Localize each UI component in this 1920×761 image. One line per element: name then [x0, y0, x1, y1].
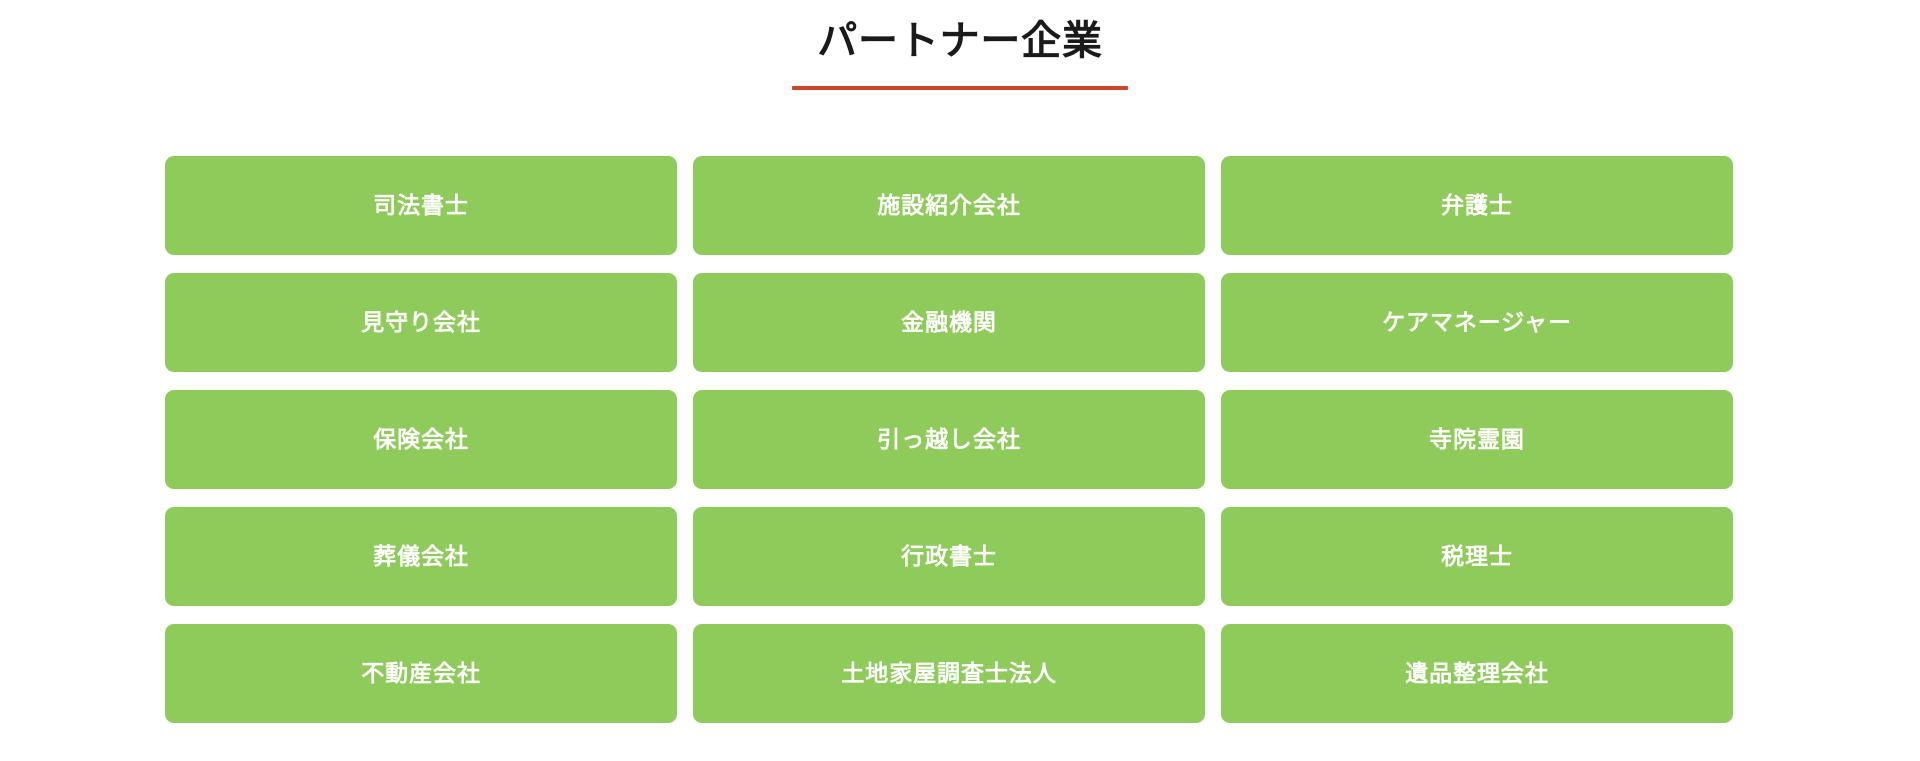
partner-card-jiin-reien[interactable]: 寺院霊園: [1221, 390, 1733, 489]
partner-card-label: 引っ越し会社: [877, 425, 1021, 455]
partner-card-bengoshi[interactable]: 弁護士: [1221, 156, 1733, 255]
partner-card-zeirishi[interactable]: 税理士: [1221, 507, 1733, 606]
partner-card-tochikaoku-chosashi[interactable]: 土地家屋調査士法人: [693, 624, 1205, 723]
partner-card-kinyu-kikan[interactable]: 金融機関: [693, 273, 1205, 372]
partner-card-label: 葬儀会社: [373, 542, 469, 572]
partner-card-sogi[interactable]: 葬儀会社: [165, 507, 677, 606]
partner-card-care-manager[interactable]: ケアマネージャー: [1221, 273, 1733, 372]
section-heading: パートナー企業: [0, 0, 1920, 90]
partner-card-grid: 司法書士 施設紹介会社 弁護士 見守り会社 金融機関 ケアマネージャー 保険会社…: [165, 156, 1733, 723]
partner-card-hoken[interactable]: 保険会社: [165, 390, 677, 489]
partner-card-label: 見守り会社: [361, 308, 481, 338]
partner-card-label: 土地家屋調査士法人: [841, 659, 1056, 689]
partner-card-fudosan[interactable]: 不動産会社: [165, 624, 677, 723]
partner-card-label: 施設紹介会社: [877, 191, 1021, 221]
partner-card-label: 不動産会社: [361, 659, 481, 689]
partner-card-mimamori[interactable]: 見守り会社: [165, 273, 677, 372]
partner-card-label: 保険会社: [373, 425, 469, 455]
partner-card-label: 税理士: [1441, 542, 1513, 572]
partner-card-label: 司法書士: [373, 191, 469, 221]
partner-card-label: 遺品整理会社: [1405, 659, 1549, 689]
page-title-text: パートナー企業: [817, 19, 1103, 63]
partner-card-ihin-seiri[interactable]: 遺品整理会社: [1221, 624, 1733, 723]
partner-card-label: 金融機関: [901, 308, 997, 338]
partner-card-shihoshoshi[interactable]: 司法書士: [165, 156, 677, 255]
partner-card-label: ケアマネージャー: [1382, 308, 1572, 338]
partner-card-label: 行政書士: [901, 542, 997, 572]
partner-card-label: 寺院霊園: [1429, 425, 1525, 455]
page-title: パートナー企業: [813, 14, 1107, 90]
partner-card-gyoseishoshi[interactable]: 行政書士: [693, 507, 1205, 606]
partner-card-shisetsu-shokai[interactable]: 施設紹介会社: [693, 156, 1205, 255]
partner-card-hikkoshi[interactable]: 引っ越し会社: [693, 390, 1205, 489]
partner-companies-page: パートナー企業 司法書士 施設紹介会社 弁護士 見守り会社 金融機関 ケアマネー…: [0, 0, 1920, 761]
title-underline-accent: [792, 86, 1128, 90]
partner-card-label: 弁護士: [1441, 191, 1513, 221]
